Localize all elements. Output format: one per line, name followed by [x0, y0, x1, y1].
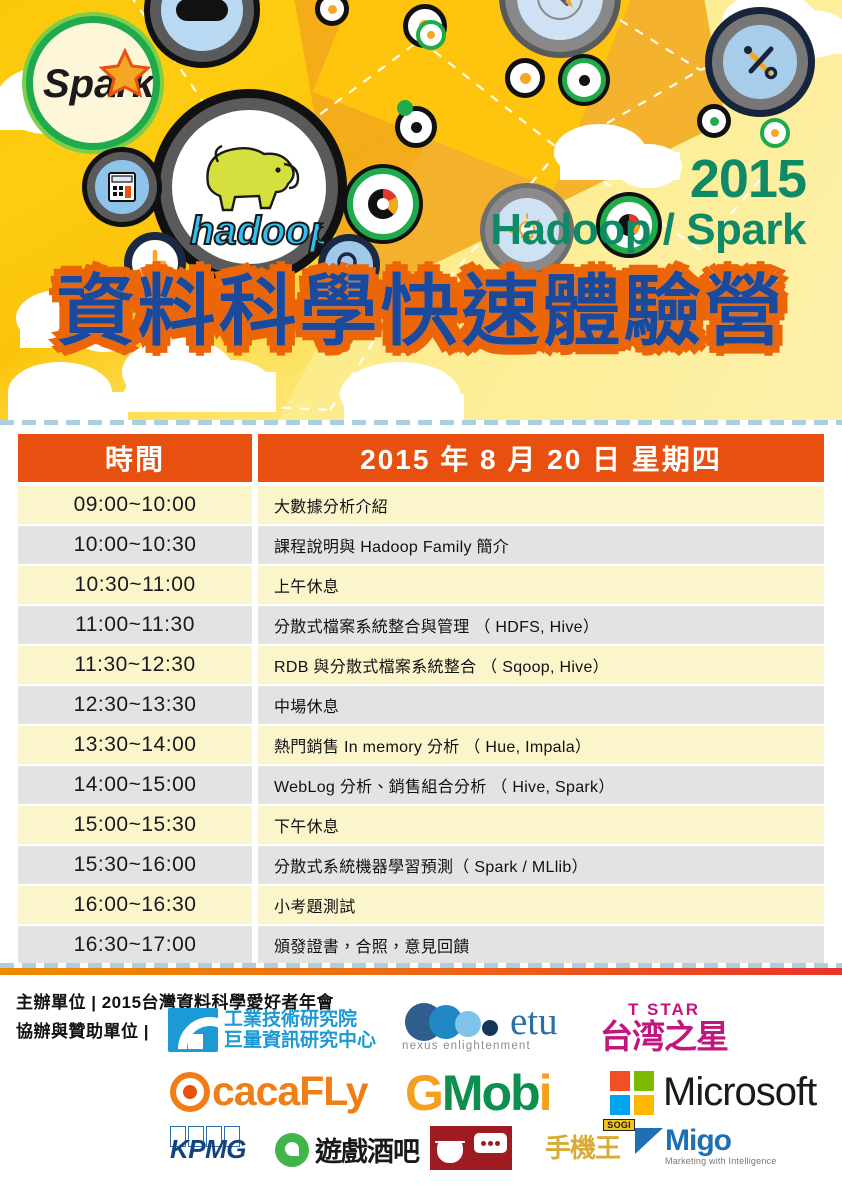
cell-topic: 熱門銷售 In memory 分析 （ Hue, Impala）: [258, 726, 824, 764]
table-row: 14:00~15:00 WebLog 分析、銷售組合分析 （ Hive, Spa…: [18, 766, 824, 804]
kpmg-word: KPMG: [170, 1134, 246, 1165]
red-chat-bubble-icon: [474, 1133, 507, 1153]
table-row: 13:30~14:00 熱門銷售 In memory 分析 （ Hue, Imp…: [18, 726, 824, 764]
cell-time: 15:30~16:00: [18, 846, 252, 884]
tools-icon: [712, 14, 808, 110]
table-row: 15:30~16:00 分散式系統機器學習預測（ Spark / MLlib）: [18, 846, 824, 884]
table-row: 11:30~12:30 RDB 與分散式檔案系統整合 （ Sqoop, Hive…: [18, 646, 824, 684]
top-dashed-divider: [0, 420, 842, 425]
cell-topic: 上午休息: [258, 566, 824, 604]
cell-topic: 中場休息: [258, 686, 824, 724]
itri-mark-icon: [168, 1008, 218, 1052]
cell-time: 12:30~13:30: [18, 686, 252, 724]
itri-logo-text: 工業技術研究院 巨量資訊研究中心: [224, 1009, 376, 1052]
hadoop-elephant-glyph: hadoop: [174, 112, 324, 262]
gmobi-i: i: [539, 1064, 553, 1122]
donut-chart-icon: [347, 168, 419, 240]
cacafly-word: cacaFLy: [212, 1068, 368, 1115]
gmobi-g: G: [405, 1064, 442, 1122]
red-chat-face: [430, 1126, 470, 1170]
cell-topic: 分散式系統機器學習預測（ Spark / MLlib）: [258, 846, 824, 884]
spark-logo-glyph: Spark: [33, 23, 153, 143]
footer: 主辦單位 | 2015台灣資料科學愛好者年會 協辦與贊助單位 | 工業技術研究院…: [0, 978, 842, 1191]
migo-word: Migo: [665, 1124, 731, 1158]
donut-glyph: [362, 183, 404, 225]
page-title-text: 資料科學快速體驗營: [56, 267, 785, 355]
migo-logo: Migo Marketing with Intelligence: [635, 1124, 731, 1158]
cell-topic: WebLog 分析、銷售組合分析 （ Hive, Spark）: [258, 766, 824, 804]
tstar-en-text: T STAR: [594, 1000, 734, 1020]
tools-glyph: [737, 39, 783, 85]
migo-mark-icon: [635, 1128, 663, 1154]
gamebar-logo: 遊戲酒吧: [275, 1130, 419, 1169]
footer-gradient-divider: [0, 968, 842, 975]
svg-text:hadoop: hadoop: [190, 209, 324, 253]
gamebar-mark-icon: [275, 1133, 309, 1167]
table-row: 10:00~10:30 課程說明與 Hadoop Family 簡介: [18, 526, 824, 564]
cell-time: 11:30~12:30: [18, 646, 252, 684]
gmobi-logo: G Mob i: [405, 1064, 553, 1122]
microsoft-word: Microsoft: [663, 1070, 816, 1115]
sogi-mobile-king-mark: 手機王 SOGI: [545, 1128, 631, 1172]
cell-time: 14:00~15:00: [18, 766, 252, 804]
etu-dots-icon: [402, 1002, 508, 1042]
table-row: 09:00~10:00 大數據分析介紹: [18, 486, 824, 524]
cell-topic: 課程說明與 Hadoop Family 簡介: [258, 526, 824, 564]
poster-root: Spark hadoop: [0, 0, 842, 1191]
hero-subtitle: Hadoop / Spark: [490, 208, 806, 252]
tstar-zh-text: 台湾之星: [594, 1020, 734, 1053]
cell-time: 11:00~11:30: [18, 606, 252, 644]
table-row: 10:30~11:00 上午休息: [18, 566, 824, 604]
spark-logo: Spark: [26, 16, 160, 150]
etu-tagline: nexus enlightenment: [402, 1040, 558, 1052]
schedule-header-row: 時間 2015 年 8 月 20 日 星期四: [18, 434, 824, 482]
cell-time: 13:30~14:00: [18, 726, 252, 764]
hero-banner: Spark hadoop: [0, 0, 842, 420]
gauge-glyph: [531, 0, 589, 26]
itri-logo: 工業技術研究院 巨量資訊研究中心: [168, 1008, 376, 1052]
cell-topic: 頒發證書，合照，意見回饋: [258, 926, 824, 964]
target-icon-6: [416, 20, 446, 50]
column-header-date: 2015 年 8 月 20 日 星期四: [258, 434, 824, 482]
cell-topic: RDB 與分散式檔案系統整合 （ Sqoop, Hive）: [258, 646, 824, 684]
migo-tagline: Marketing with Intelligence: [665, 1156, 776, 1166]
cell-topic: 分散式檔案系統整合與管理 （ HDFS, Hive）: [258, 606, 824, 644]
hero-year: 2015: [690, 152, 806, 206]
red-chat-logo: [430, 1126, 512, 1170]
gamebar-word: 遊戲酒吧: [315, 1130, 419, 1169]
calculator-icon: [87, 152, 157, 222]
cell-time: 15:00~15:30: [18, 806, 252, 844]
microsoft-logo: Microsoft: [610, 1070, 816, 1115]
cell-topic: 下午休息: [258, 806, 824, 844]
column-header-time: 時間: [18, 434, 252, 482]
microsoft-squares-icon: [610, 1071, 654, 1115]
cell-time: 16:00~16:30: [18, 886, 252, 924]
sogi-mobile-king-logo: 手機王 SOGI: [545, 1128, 631, 1172]
table-row: 16:30~17:00 頒發證書，合照，意見回饋: [18, 926, 824, 964]
page-title: 資料科學快速體驗營: [56, 272, 785, 350]
sogi-badge: SOGI: [603, 1119, 635, 1131]
cell-time: 16:30~17:00: [18, 926, 252, 964]
kpmg-logo: KPMG: [170, 1126, 246, 1165]
itri-line1: 工業技術研究院: [224, 1009, 376, 1030]
target-icon-5: [562, 58, 606, 102]
cacafly-mark-icon: [170, 1072, 210, 1112]
calculator-glyph: [105, 170, 139, 204]
etu-logo: etu nexus enlightenment: [402, 1002, 558, 1054]
table-row: 15:00~15:30 下午休息: [18, 806, 824, 844]
cell-time: 10:00~10:30: [18, 526, 252, 564]
cell-topic: 大數據分析介紹: [258, 486, 824, 524]
target-icon-9: [760, 118, 790, 148]
cosponsor-line: 協辦與贊助單位 |: [16, 1017, 149, 1042]
etu-word: etu: [510, 1004, 558, 1039]
gmobi-mob: Mob: [442, 1064, 539, 1122]
itri-line2: 巨量資訊研究中心: [224, 1030, 376, 1051]
target-icon-7: [397, 100, 413, 116]
target-icon-8: [697, 104, 731, 138]
target-icon-4: [505, 58, 545, 98]
cell-time: 10:30~11:00: [18, 566, 252, 604]
red-chat-card-icon: [430, 1126, 512, 1170]
sogi-mobile-king-word: 手機王: [545, 1133, 620, 1163]
hadoop-logo: hadoop: [160, 98, 338, 276]
schedule-table: 時間 2015 年 8 月 20 日 星期四 09:00~10:00 大數據分析…: [18, 434, 824, 966]
table-row: 16:00~16:30 小考題測試: [18, 886, 824, 924]
cell-topic: 小考題測試: [258, 886, 824, 924]
cell-time: 09:00~10:00: [18, 486, 252, 524]
table-row: 11:00~11:30 分散式檔案系統整合與管理 （ HDFS, Hive）: [18, 606, 824, 644]
tstar-logo: T STAR 台湾之星: [594, 1000, 734, 1053]
table-row: 12:30~13:30 中場休息: [18, 686, 824, 724]
cacafly-logo: cacaFLy: [170, 1068, 368, 1115]
